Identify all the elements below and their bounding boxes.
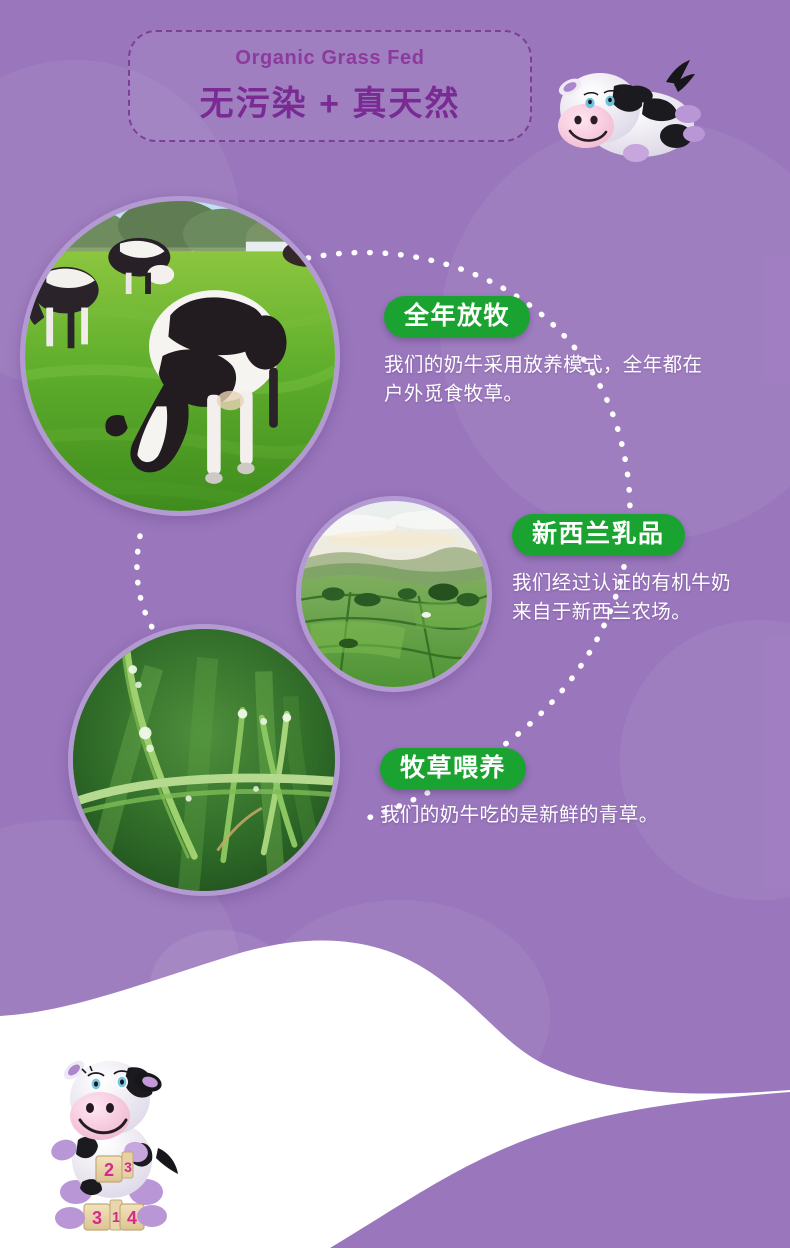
pasture-cows-photo (20, 196, 340, 516)
plush-cow-lying-mascot-icon (548, 48, 708, 168)
feature-block-grass-fed: 牧草喂养 我们的奶牛吃的是新鲜的青草。 (380, 748, 772, 830)
dewy-grass-closeup-photo (68, 624, 340, 896)
feature-badge: 牧草喂养 (380, 748, 526, 790)
header-dashed-frame: Organic Grass Fed 无污染 + 真天然 (128, 30, 532, 142)
feature-badge: 全年放牧 (384, 296, 530, 338)
feature-description: 我们的奶牛采用放养模式，全年都在 户外觅食牧草。 (384, 351, 756, 408)
feature-block-new-zealand-dairy: 新西兰乳品 我们经过认证的有机牛奶 来自于新西兰农场。 (512, 514, 774, 626)
feature-badge: 新西兰乳品 (512, 514, 685, 556)
new-zealand-landscape-photo (296, 496, 492, 692)
header-eyebrow-text: Organic Grass Fed (235, 47, 424, 70)
page-title: 无污染 + 真天然 (200, 76, 461, 125)
feature-block-year-round-grazing: 全年放牧 我们的奶牛采用放养模式，全年都在 户外觅食牧草。 (384, 296, 756, 408)
feature-description: 我们的奶牛吃的是新鲜的青草。 (380, 801, 772, 829)
bottom-wave-divider (0, 920, 790, 1248)
promotional-banner-page: Organic Grass Fed 无污染 + 真天然 (0, 0, 790, 1248)
feature-description: 我们经过认证的有机牛奶 来自于新西兰农场。 (512, 569, 774, 626)
